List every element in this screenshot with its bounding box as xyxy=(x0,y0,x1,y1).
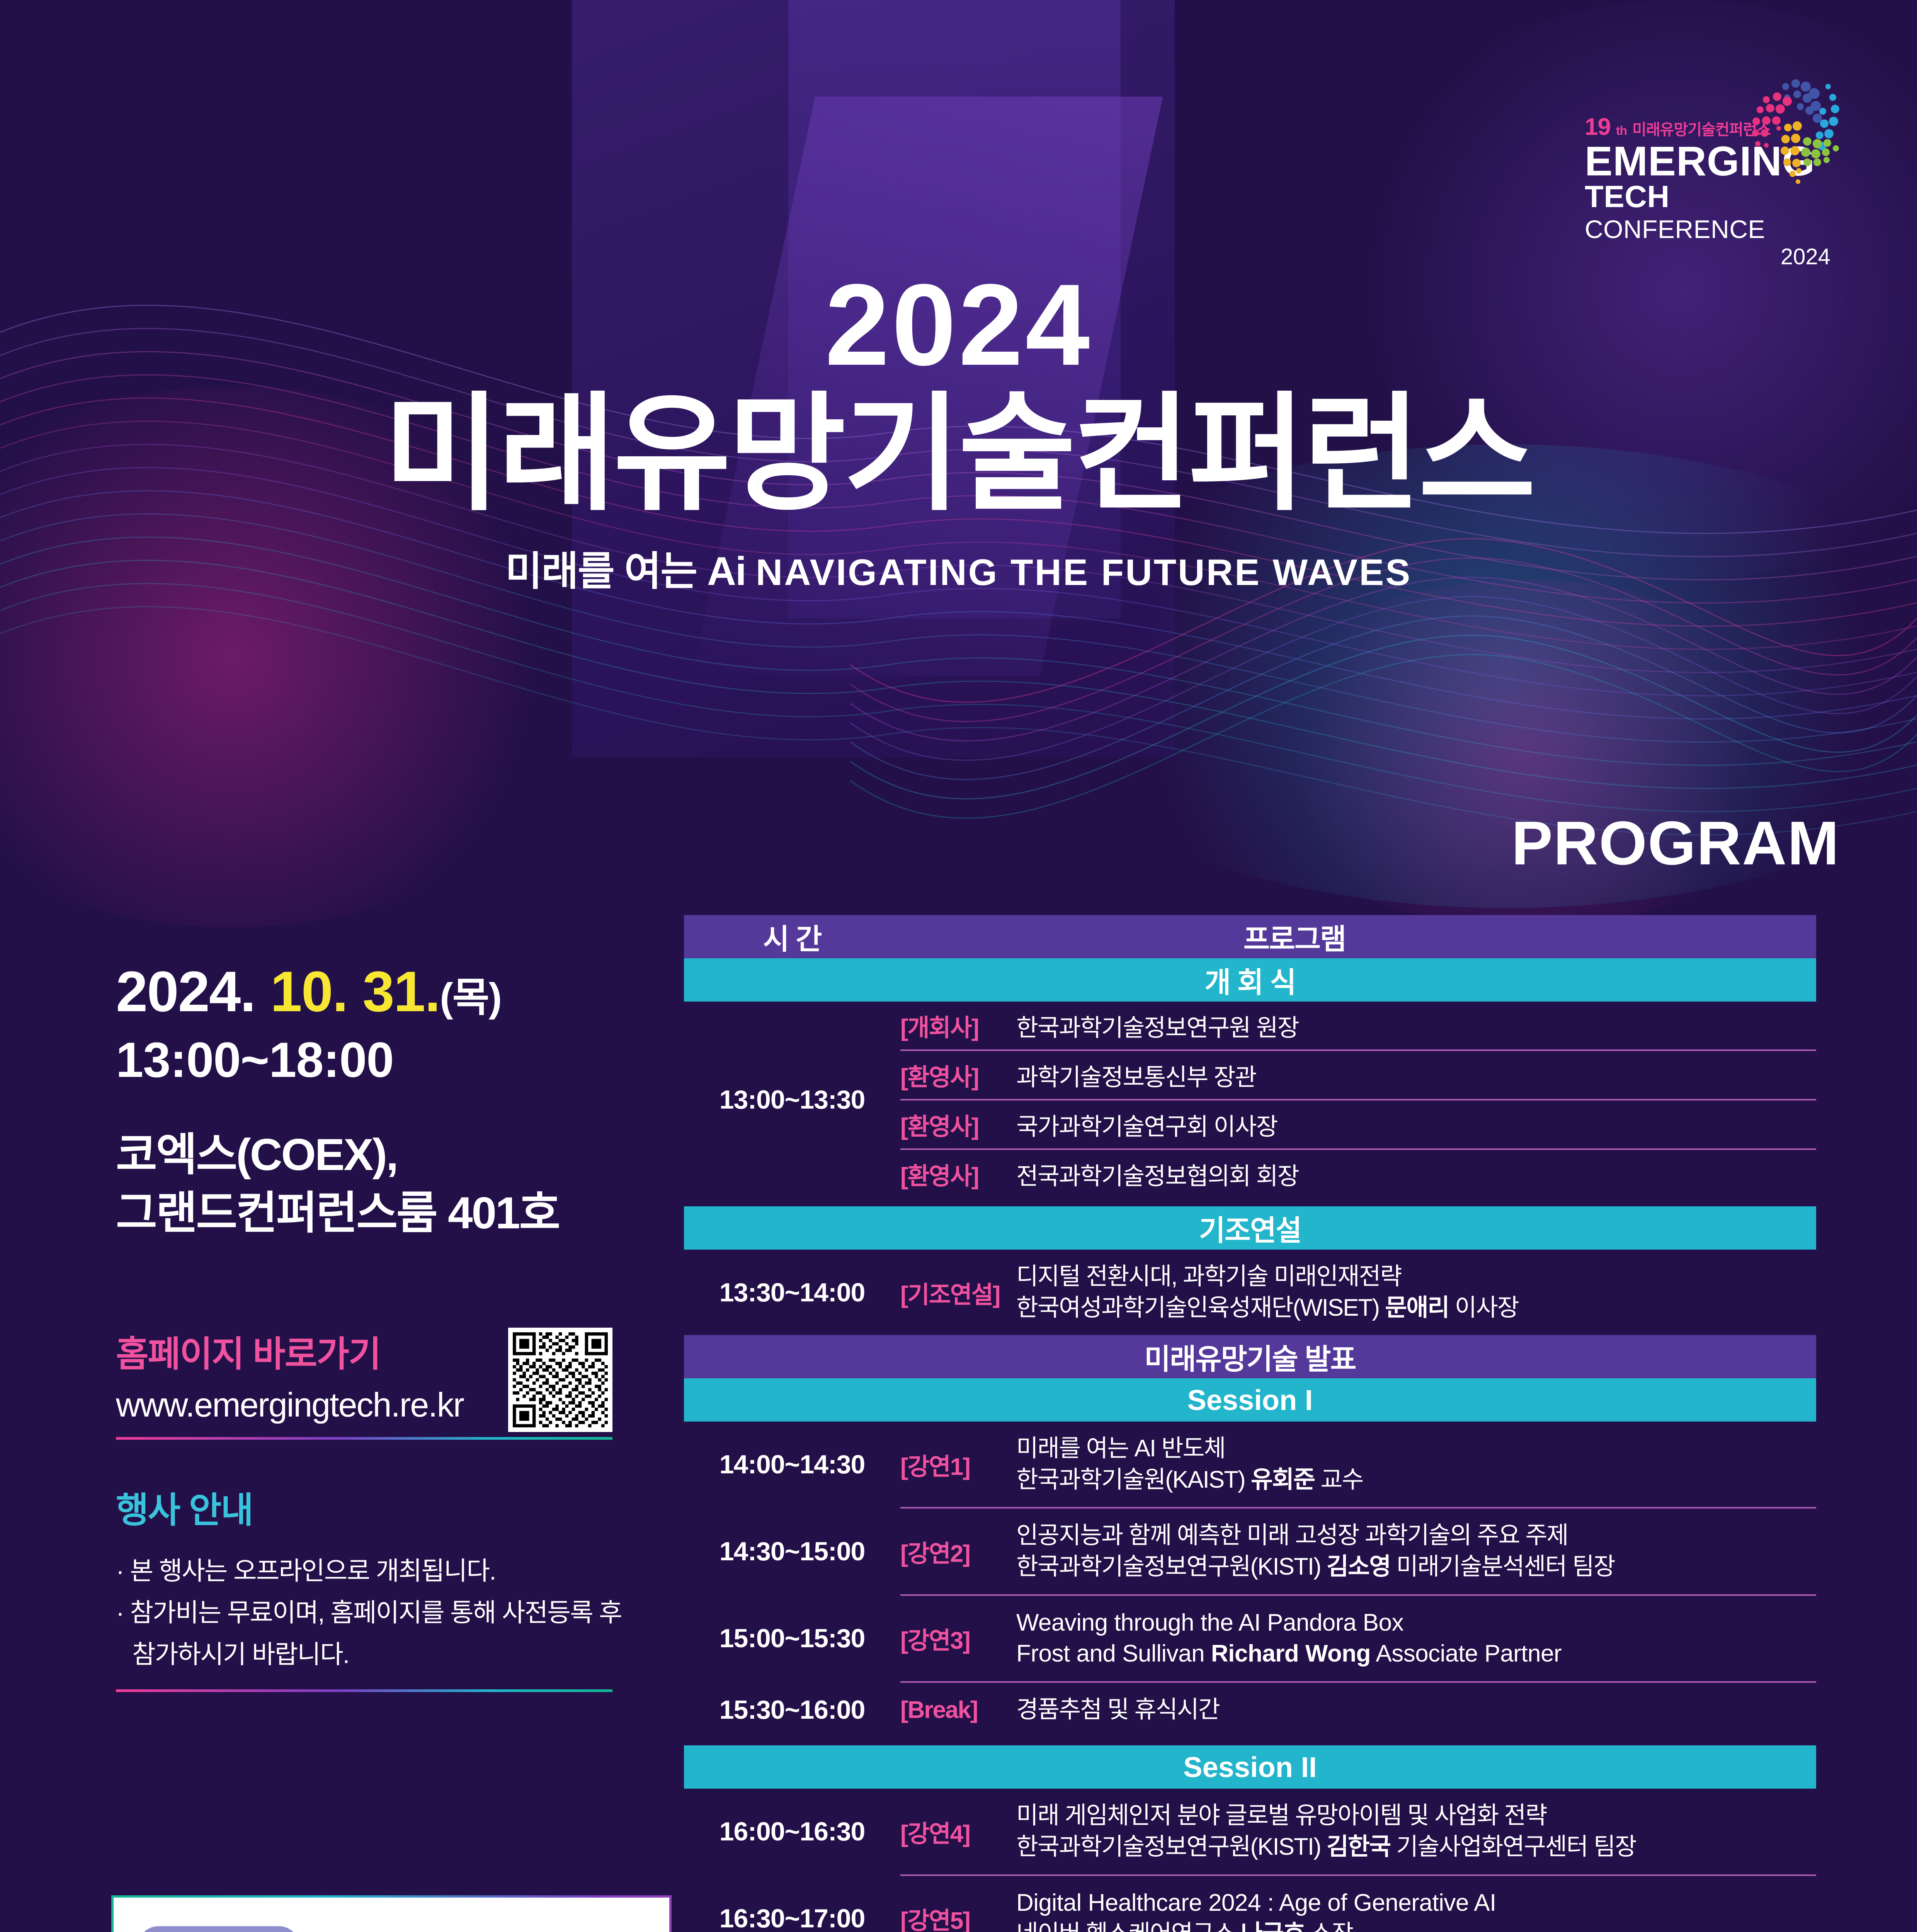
event-date: 2024. 10. 31.(목) xyxy=(116,958,665,1026)
notice-section: 행사 안내 · 본 행사는 오프라인으로 개최됩니다. · 참가비는 무료이며,… xyxy=(116,1481,665,1692)
row-tag: [강연3] xyxy=(900,1596,1016,1681)
cell-body: 미래 게임체인저 분야 글로벌 유망아이템 및 사업화 전략 한국과학기술정보연… xyxy=(1016,1789,1816,1874)
row-title: 디지털 전환시대, 과학기술 미래인재전략 xyxy=(1016,1261,1816,1293)
row-tag: [환영사] xyxy=(900,1107,1016,1142)
homepage-section: 홈페이지 바로가기 www.emergingtech.re.kr xyxy=(116,1325,665,1440)
tagline-english: NAVIGATING THE FUTURE WAVES xyxy=(756,551,1412,594)
speaker-affiliation: 네이버 헬스케어연구소 xyxy=(1016,1920,1241,1932)
table-row-lecture5: 16:30~17:00 [강연5] Digital Healthcare 202… xyxy=(684,1876,1816,1932)
event-time: 13:00~18:00 xyxy=(116,1028,665,1092)
hero-title-block: 2024 미래유망기술컨퍼런스 미래를 여는 Ai NAVIGATING THE… xyxy=(0,267,1917,597)
table-row-keynote: 13:30~14:00 [기조연설] 디지털 전환시대, 과학기술 미래인재전략… xyxy=(684,1250,1816,1335)
speaker-title: Associate Partner xyxy=(1371,1640,1561,1667)
speaker-name: 김소영 xyxy=(1327,1553,1390,1580)
notice-item: · 참가비는 무료이며, 홈페이지를 통해 사전등록 후 xyxy=(116,1593,665,1632)
cell-body: 인공지능과 함께 예측한 미래 고성장 과학기술의 주요 주제 한국과학기술정보… xyxy=(1016,1509,1816,1594)
band-session1: Session I xyxy=(684,1378,1816,1422)
row-title: Digital Healthcare 2024 : Age of Generat… xyxy=(1016,1888,1816,1919)
speaker-title: 이사장 xyxy=(1449,1294,1519,1321)
cell-body: 미래를 여는 AI 반도체 한국과학기술원(KAIST) 유회준 교수 xyxy=(1016,1422,1816,1507)
speaker-name: 김한국 xyxy=(1327,1833,1390,1860)
hero-year: 2024 xyxy=(0,267,1917,383)
row-title: 미래를 여는 AI 반도체 xyxy=(1016,1433,1816,1464)
hero-title: 미래유망기술컨퍼런스 xyxy=(0,387,1917,521)
table-row: [환영사] 국가과학기술연구회 이사장 xyxy=(900,1100,1816,1148)
speaker-affiliation: 한국과학기술정보연구원(KISTI) xyxy=(1016,1553,1327,1580)
swirl-dots-icon xyxy=(1684,70,1847,232)
cell-time: 15:30~16:00 xyxy=(684,1683,900,1737)
table-row-lecture3: 15:00~15:30 [강연3] Weaving through the AI… xyxy=(684,1596,1816,1681)
row-title: 미래 게임체인저 분야 글로벌 유망아이템 및 사업화 전략 xyxy=(1016,1800,1816,1832)
cell-body: 경품추첨 및 휴식시간 xyxy=(1016,1683,1816,1737)
table-row: [개회사] 한국과학기술정보연구원 원장 xyxy=(900,1002,1816,1049)
row-tag: [기조연설] xyxy=(900,1250,1016,1335)
column-header-program: 프로그램 xyxy=(900,916,1816,957)
cell-time: 13:30~14:00 xyxy=(684,1250,900,1335)
date-dayofweek: (목) xyxy=(440,975,501,1020)
cell-time: 13:00~13:30 xyxy=(684,1002,900,1198)
row-tag: [강연5] xyxy=(900,1876,1016,1932)
band-session2: Session II xyxy=(684,1745,1816,1789)
row-tag: [환영사] xyxy=(900,1058,1016,1092)
table-row-lecture2: 14:30~15:00 [강연2] 인공지능과 함께 예측한 미래 고성장 과학… xyxy=(684,1509,1816,1594)
notice-item: · 본 행사는 오프라인으로 개최됩니다. xyxy=(116,1551,665,1590)
cell-time: 14:00~14:30 xyxy=(684,1422,900,1507)
logo-ordinal: 19 xyxy=(1585,116,1611,139)
speaker-name: 문애리 xyxy=(1385,1294,1449,1321)
table-row: [환영사] 과학기술정보통신부 장관 xyxy=(900,1051,1816,1099)
row-speaker: Frost and Sullivan Richard Wong Associat… xyxy=(1016,1638,1816,1670)
row-speaker: 한국여성과학기술인육성재단(WISET) 문애리 이사장 xyxy=(1016,1293,1816,1324)
venue-line-2: 그랜드컨퍼런스룸 401호 xyxy=(116,1184,665,1242)
row-speaker: 한국과학기술정보연구원(KISTI) 김한국 기술사업화연구센터 팀장 xyxy=(1016,1832,1816,1863)
row-tag: [강연4] xyxy=(900,1789,1016,1874)
event-venue: 코엑스(COEX), 그랜드컨퍼런스룸 401호 xyxy=(116,1126,665,1242)
row-speaker: 네이버 헬스케어연구소 나군호 소장 xyxy=(1016,1918,1816,1932)
speaker-affiliation: 한국과학기술원(KAIST) xyxy=(1016,1466,1251,1493)
cell-time: 15:00~15:30 xyxy=(684,1596,900,1681)
speaker-affiliation: 한국과학기술정보연구원(KISTI) xyxy=(1016,1833,1327,1860)
table-header: 시 간 프로그램 xyxy=(684,915,1816,958)
event-info-column: 2024. 10. 31.(목) 13:00~18:00 코엑스(COEX), … xyxy=(116,958,665,1692)
prize-card: 사전등록자 대상 모바일 커피교환권 추첨(150인) 현장 참가자 전원 양우… xyxy=(111,1895,672,1932)
row-text: 전국과학기술정보협의회 회장 xyxy=(1016,1156,1299,1191)
date-day: 31. xyxy=(362,960,440,1024)
divider-notice xyxy=(116,1689,612,1692)
row-speaker: 한국과학기술원(KAIST) 유회준 교수 xyxy=(1016,1464,1816,1496)
prize-row-preregister: 사전등록자 대상 모바일 커피교환권 추첨(150인) xyxy=(138,1926,645,1932)
notice-title: 행사 안내 xyxy=(116,1481,665,1533)
row-text: 국가과학기술연구회 이사장 xyxy=(1016,1107,1277,1142)
qr-code[interactable] xyxy=(508,1328,612,1432)
row-text: 한국과학기술정보연구원 원장 xyxy=(1016,1008,1299,1043)
cell-time: 16:30~17:00 xyxy=(684,1876,900,1932)
program-heading: PROGRAM xyxy=(1511,808,1840,879)
row-tag: [개회사] xyxy=(900,1008,1016,1043)
date-month: 10. xyxy=(270,960,348,1024)
column-header-time: 시 간 xyxy=(684,916,900,957)
speaker-title: 미래기술분석센터 팀장 xyxy=(1390,1553,1615,1580)
conference-poster: 19 th 미래유망기술컨퍼런스 EMERGING TECH CONFERENC… xyxy=(0,0,1917,1932)
date-year: 2024. xyxy=(116,960,255,1024)
speaker-name: 유회준 xyxy=(1251,1466,1315,1493)
tagline-korean: 미래를 여는 Ai xyxy=(505,538,746,597)
speaker-name: Richard Wong xyxy=(1211,1640,1371,1667)
row-speaker: 한국과학기술정보연구원(KISTI) 김소영 미래기술분석센터 팀장 xyxy=(1016,1551,1816,1583)
speaker-affiliation: Frost and Sullivan xyxy=(1016,1640,1211,1667)
row-tag: [환영사] xyxy=(900,1156,1016,1191)
venue-line-1: 코엑스(COEX), xyxy=(116,1126,665,1184)
program-table: 시 간 프로그램 개 회 식 13:00~13:30 [개회사] 한국과학기술정… xyxy=(684,915,1816,1932)
logo-year: 2024 xyxy=(1585,244,1840,270)
row-title: 경품추첨 및 휴식시간 xyxy=(1016,1694,1816,1726)
prize-pill: 사전등록자 대상 xyxy=(138,1926,300,1932)
logo-tech: TECH xyxy=(1585,179,1670,214)
table-row-break: 15:30~16:00 [Break] 경품추첨 및 휴식시간 xyxy=(684,1683,1816,1737)
notice-list: · 본 행사는 오프라인으로 개최됩니다. · 참가비는 무료이며, 홈페이지를… xyxy=(116,1551,665,1674)
hero-tagline: 미래를 여는 Ai NAVIGATING THE FUTURE WAVES xyxy=(0,538,1917,597)
speaker-title: 기술사업화연구센터 팀장 xyxy=(1390,1833,1636,1860)
divider-homepage xyxy=(116,1437,612,1440)
row-tag: [강연1] xyxy=(900,1422,1016,1507)
qr-code-icon xyxy=(513,1332,608,1427)
speaker-title: 교수 xyxy=(1315,1466,1363,1493)
speaker-name: 나군호 xyxy=(1241,1920,1305,1932)
band-future-tech: 미래유망기술 발표 xyxy=(684,1335,1816,1378)
row-text: 과학기술정보통신부 장관 xyxy=(1016,1058,1256,1092)
band-keynote: 기조연설 xyxy=(684,1206,1816,1250)
table-row-opening: 13:00~13:30 [개회사] 한국과학기술정보연구원 원장 [환영사] 과… xyxy=(684,1002,1816,1198)
band-opening: 개 회 식 xyxy=(684,958,1816,1002)
cell-body: 디지털 전환시대, 과학기술 미래인재전략 한국여성과학기술인육성재단(WISE… xyxy=(1016,1250,1816,1335)
row-tag: [강연2] xyxy=(900,1509,1016,1594)
logo-ordinal-suffix: th xyxy=(1616,124,1627,138)
row-title: Weaving through the AI Pandora Box xyxy=(1016,1607,1816,1639)
table-row-lecture4: 16:00~16:30 [강연4] 미래 게임체인저 분야 글로벌 유망아이템 … xyxy=(684,1789,1816,1874)
speaker-affiliation: 한국여성과학기술인육성재단(WISET) xyxy=(1016,1294,1385,1321)
opening-subitems: [개회사] 한국과학기술정보연구원 원장 [환영사] 과학기술정보통신부 장관 … xyxy=(900,1002,1816,1198)
notice-item: 참가하시기 바랍니다. xyxy=(116,1635,665,1673)
cell-time: 16:00~16:30 xyxy=(684,1789,900,1874)
row-tag: [Break] xyxy=(900,1683,1016,1737)
row-title: 인공지능과 함께 예측한 미래 고성장 과학기술의 주요 주제 xyxy=(1016,1520,1816,1551)
table-row-lecture1: 14:00~14:30 [강연1] 미래를 여는 AI 반도체 한국과학기술원(… xyxy=(684,1422,1816,1507)
speaker-title: 소장 xyxy=(1305,1920,1353,1932)
cell-time: 14:30~15:00 xyxy=(684,1509,900,1594)
table-row: [환영사] 전국과학기술정보협의회 회장 xyxy=(900,1150,1816,1198)
cell-body: Digital Healthcare 2024 : Age of Generat… xyxy=(1016,1876,1816,1932)
conference-logo: 19 th 미래유망기술컨퍼런스 EMERGING TECH CONFERENC… xyxy=(1585,116,1840,270)
cell-body: Weaving through the AI Pandora Box Frost… xyxy=(1016,1596,1816,1681)
